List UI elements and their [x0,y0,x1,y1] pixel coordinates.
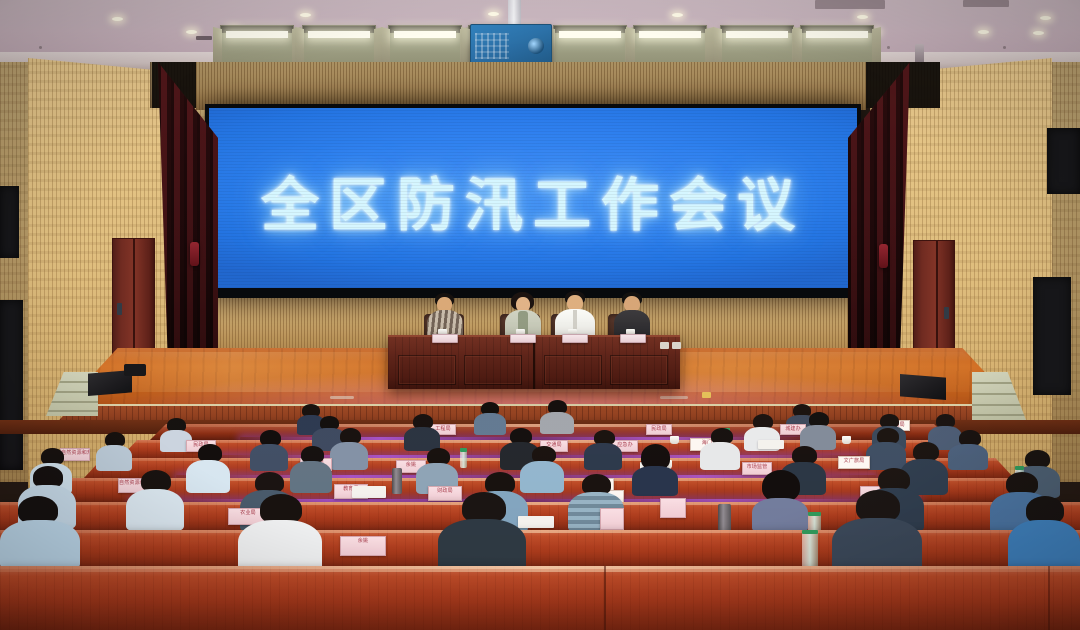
audience-desk-front-slab [0,566,1080,630]
audience-nameplate [660,498,686,518]
nameplate-text [621,335,645,336]
audience-person [700,428,740,468]
nameplate-text [563,335,587,336]
audience-person-woman [632,444,678,494]
audience-person [800,412,836,448]
ceiling-panel [963,0,1009,7]
ceiling-downlight [112,17,123,21]
acoustic-panel [1047,128,1080,194]
power-socket [660,342,669,349]
stage-monitor-speaker-right [900,374,946,400]
audience-person [96,432,132,468]
audience-person [540,400,574,432]
audience-person [126,470,184,528]
audience-person [584,430,622,468]
acoustic-panel [0,186,19,258]
audience-person [250,430,288,468]
power-socket [672,342,681,349]
acoustic-panel [0,300,23,470]
audience-person-front [1008,496,1080,570]
thermos-flask [392,468,402,494]
audience-person-front [438,492,526,570]
water-bottle-front [802,530,818,570]
ceiling-panel [815,0,885,9]
head-table-nameplate [620,334,646,343]
screen-title-text: 全区防汛工作会议 [209,158,857,242]
ceiling-downlight [857,15,868,19]
ceiling-downlight [186,30,197,34]
desk-seam [604,566,606,630]
desk-edge-highlight [0,566,1080,572]
audience-person [186,444,230,492]
ceiling-sprinkler [887,46,890,49]
head-table-nameplate [562,334,588,343]
ceiling-downlight [978,30,989,34]
led-screen: 全区防汛工作会议 [209,108,857,288]
audience-person [290,446,332,492]
nameplate-text [433,335,457,336]
right-curtain-tieback [879,244,888,268]
ceiling-downlight [1033,31,1044,35]
nameplate-text [511,335,535,336]
left-curtain-tieback [190,242,199,266]
water-bottle [460,448,467,468]
head-table-nameplate [432,334,458,343]
audience-nameplate: 余姚 [340,536,386,556]
audience-nameplate [600,508,624,530]
acoustic-panel [1033,277,1071,395]
speaker-box [124,364,146,376]
stage-backdrop-slats [196,62,866,110]
ceiling-sprinkler [39,46,42,49]
ceiling-sprinkler [1003,46,1006,49]
conference-hall-photo: 全区防汛工作会议 [0,0,1080,630]
ceiling-downlight [672,13,683,17]
document-paper [352,486,386,498]
desk-seam [1048,566,1050,630]
audience-nameplate: 民政局 [646,424,672,435]
head-table [388,335,680,389]
audience-person [404,414,440,448]
audience-person-front [832,490,922,570]
audience-person [948,430,988,468]
teacup [842,436,851,444]
teacup [670,436,679,444]
ceiling-downlight [1040,16,1051,20]
floor-cable [330,396,354,399]
ceiling-downlight [488,12,499,16]
floor-cable [660,396,688,399]
ceiling-downlight [300,13,311,17]
audience-person-front [0,496,80,566]
ceiling-vent [196,36,212,40]
audience-person-front [238,494,322,568]
floor-tape-marker [702,392,711,398]
audience-person-woman [750,470,810,530]
head-table-nameplate [510,334,536,343]
audience-person [330,428,368,468]
